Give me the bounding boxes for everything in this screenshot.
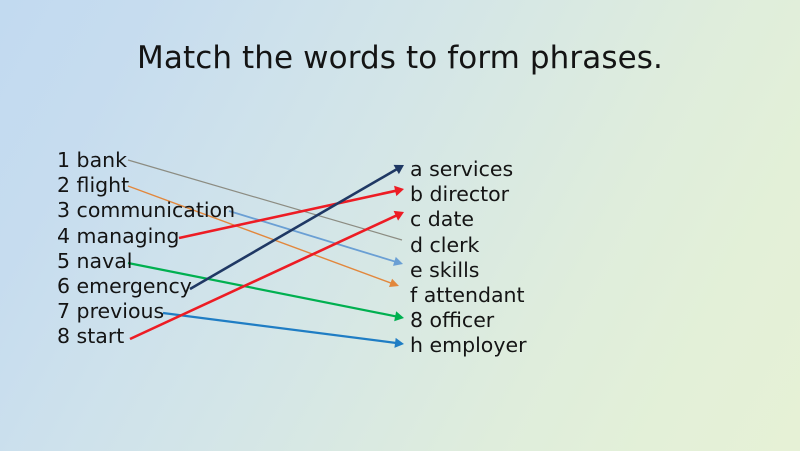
list-item[interactable]: 8 officer <box>410 308 527 333</box>
list-item[interactable]: e skills <box>410 258 527 283</box>
arrowhead-icon <box>389 279 399 287</box>
list-item[interactable]: c date <box>410 207 527 232</box>
list-item[interactable]: 3 communication <box>57 198 235 223</box>
right-terms-column: a services b director c date d clerk e s… <box>410 157 527 359</box>
page-title: Match the words to form phrases. <box>0 40 800 76</box>
list-item[interactable]: 1 bank <box>57 148 235 173</box>
list-item[interactable]: a services <box>410 157 527 182</box>
connector-line <box>229 211 398 263</box>
left-terms-column: 1 bank 2 flight 3 communication 4 managi… <box>57 148 235 350</box>
arrowhead-icon <box>394 211 404 221</box>
list-item[interactable]: 5 naval <box>57 249 235 274</box>
arrowhead-icon <box>394 338 404 348</box>
list-item[interactable]: f attendant <box>410 283 527 308</box>
list-item[interactable]: 2 flight <box>57 173 235 198</box>
arrowhead-icon <box>394 311 404 321</box>
slide-canvas: Match the words to form phrases. 1 bank … <box>0 0 800 451</box>
arrowhead-icon <box>393 257 403 266</box>
arrowhead-icon <box>394 186 404 196</box>
list-item[interactable]: 6 emergency <box>57 274 235 299</box>
list-item[interactable]: d clerk <box>410 233 527 258</box>
list-item[interactable]: 7 previous <box>57 299 235 324</box>
connector-communication-to-skills <box>229 211 403 266</box>
list-item[interactable]: 8 start <box>57 324 235 349</box>
list-item[interactable]: h employer <box>410 333 527 358</box>
list-item[interactable]: 4 managing <box>57 224 235 249</box>
list-item[interactable]: b director <box>410 182 527 207</box>
arrowhead-icon <box>394 165 404 174</box>
